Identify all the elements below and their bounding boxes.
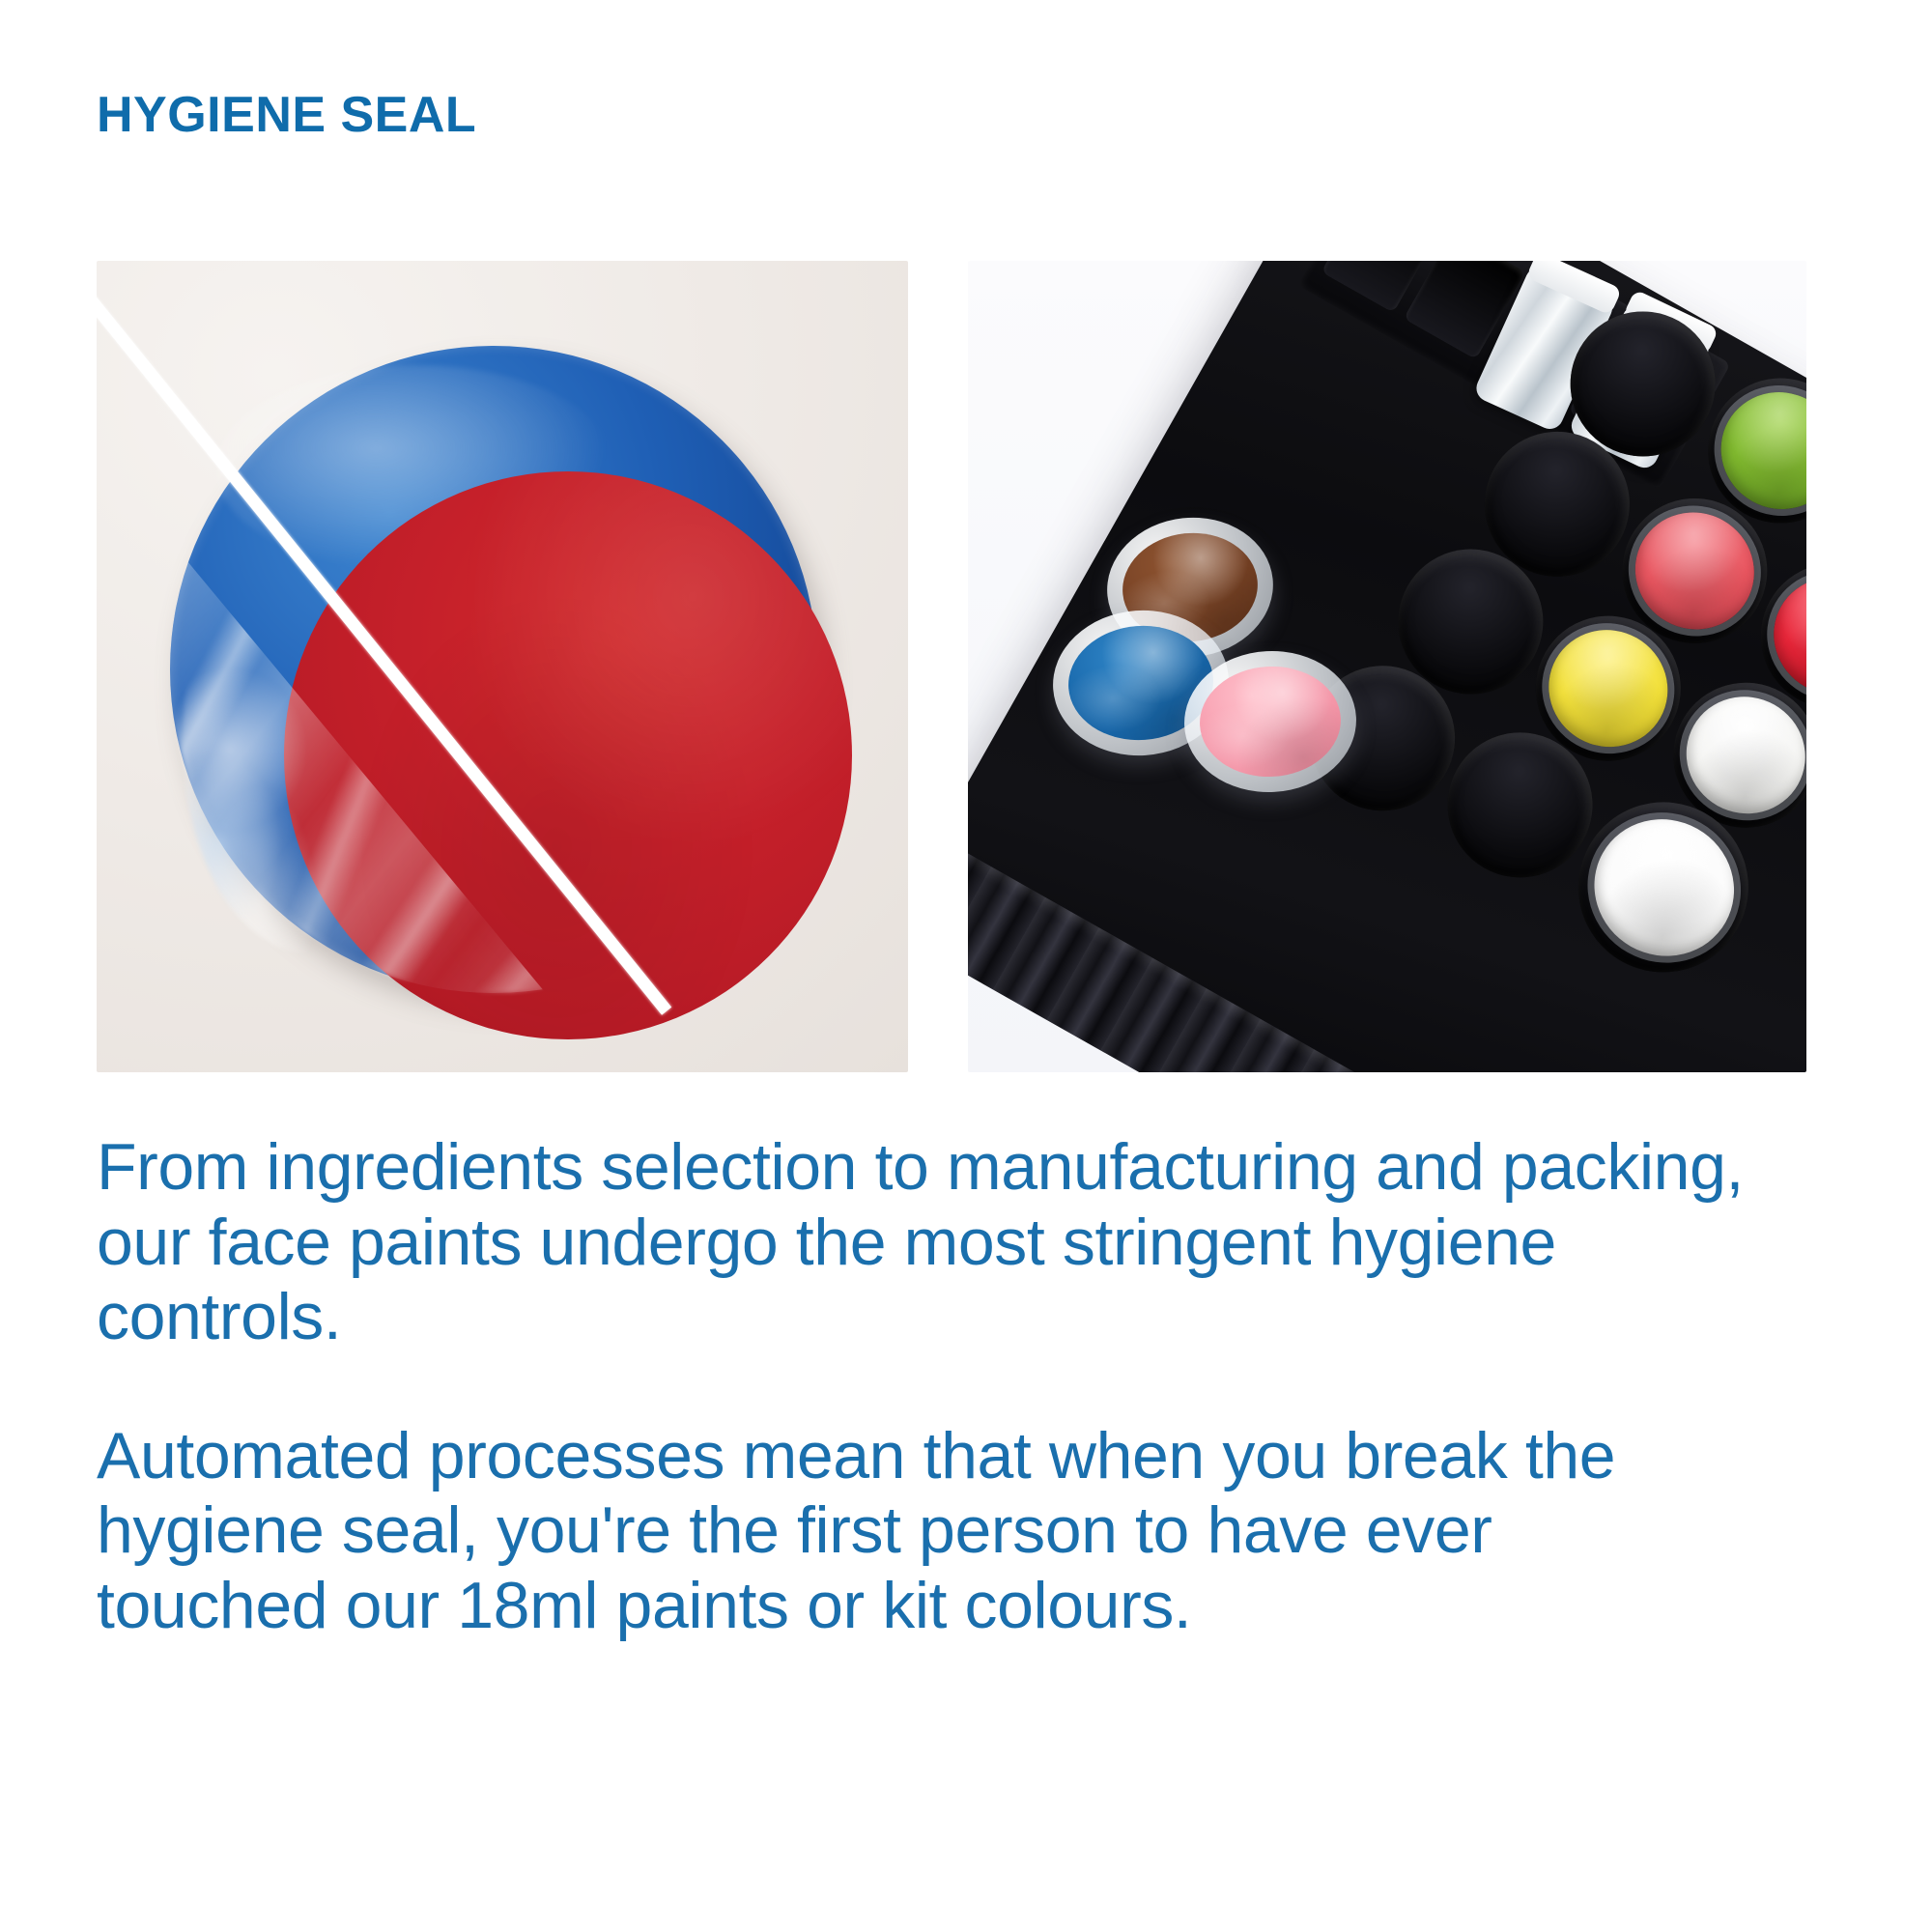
- paragraph-automated-processes: Automated processes mean that when you b…: [97, 1419, 1739, 1644]
- sealed-pot-pink: [1197, 663, 1344, 780]
- photo-gallery: [97, 261, 1806, 1072]
- hygiene-seal-infographic: HYGIENE SEAL: [0, 0, 1932, 1932]
- photo-seal-comparison: [97, 261, 908, 1072]
- page-title: HYGIENE SEAL: [97, 89, 476, 142]
- photo-palette-tray: [968, 261, 1806, 1072]
- paragraph-hygiene-controls: From ingredients selection to manufactur…: [97, 1130, 1758, 1355]
- body-copy: From ingredients selection to manufactur…: [97, 1130, 1797, 1643]
